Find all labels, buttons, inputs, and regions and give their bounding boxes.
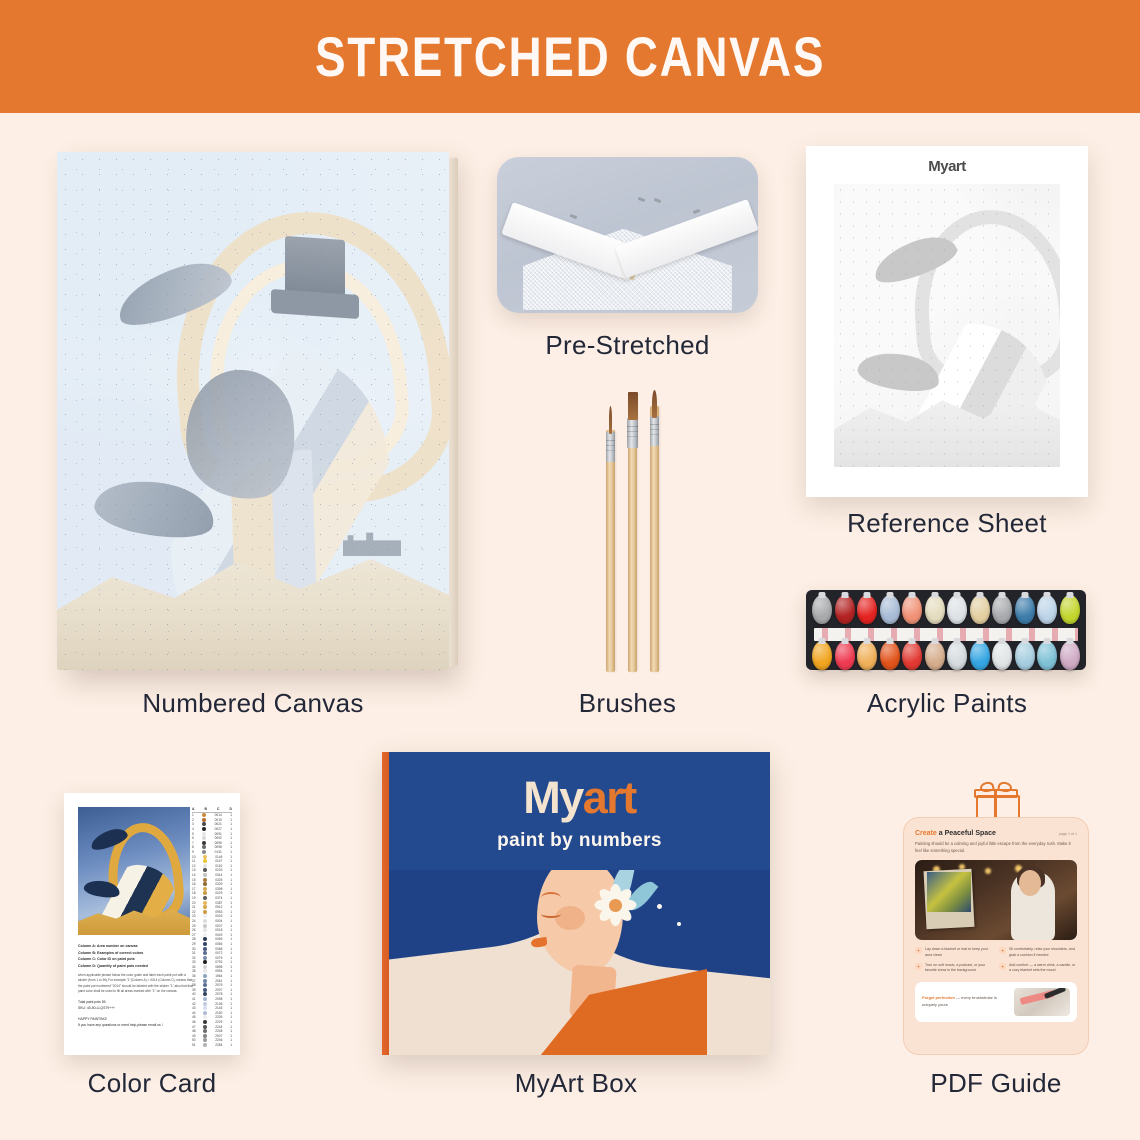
cell-color-id: 2284	[215, 1043, 222, 1047]
box-brand-area: Myart paint by numbers	[389, 752, 770, 874]
brush-ferrule-medium	[650, 416, 659, 446]
daisy-center	[609, 899, 622, 912]
cell-area-number: 30	[192, 947, 196, 951]
tip-item: ✦ Sit comfortably, relax your shoulders,…	[999, 947, 1077, 958]
tip-text: Add comfort — a warm drink, a candle, or…	[1009, 963, 1077, 974]
cell-area-number: 24	[192, 919, 196, 923]
cell-color-id: 0049	[215, 933, 222, 937]
cell-area-number: 41	[192, 997, 196, 1001]
canvas-side-edge	[448, 157, 458, 666]
cell-area-number: 46	[192, 1020, 196, 1024]
reference-specks	[834, 184, 1060, 467]
cell-color-id: 0065	[215, 942, 222, 946]
pdf-footer-note: Forget perfection — every brushstroke is…	[915, 982, 1077, 1022]
cell-color-id: 0953	[215, 910, 222, 914]
cell-area-number: 50	[192, 1038, 196, 1042]
acrylic-paints-image	[806, 590, 1086, 670]
reference-sheet-image: Myart	[806, 146, 1088, 497]
cell-quantity: 1	[230, 942, 232, 946]
paint-pot	[1037, 595, 1057, 624]
tip-item: ✦ Turn on soft music, a podcast, or your…	[915, 963, 993, 974]
cell-area-number: 3	[192, 822, 194, 826]
paint-pot	[1037, 641, 1057, 670]
photo-painting	[927, 872, 971, 912]
cell-quantity: 1	[230, 1025, 232, 1029]
brush-bristles-flat	[628, 392, 638, 420]
cell-quantity: 1	[230, 919, 232, 923]
cell-quantity: 1	[230, 979, 232, 983]
cell-area-number: 31	[192, 951, 196, 955]
cell-area-number: 39	[192, 988, 196, 992]
paint-tray	[806, 590, 1086, 670]
cell-color-id: 2145	[215, 1006, 222, 1010]
tip-text: Sit comfortably, relax your shoulders, a…	[1009, 947, 1077, 958]
gift-icon	[974, 783, 1018, 821]
cell-area-number: 49	[192, 1034, 196, 1038]
cell-color-id: 0325	[215, 878, 222, 882]
reference-sheet-artwork	[834, 184, 1060, 467]
pre-stretched-image	[497, 157, 758, 313]
cell-color-id: 0068	[215, 947, 222, 951]
label-pdf-guide: PDF Guide	[903, 1068, 1089, 1099]
cell-color-id: 0014	[215, 813, 222, 817]
cell-quantity: 1	[230, 896, 232, 900]
cell-area-number: 43	[192, 1006, 196, 1010]
cell-color-id: 0076	[215, 956, 222, 960]
paint-pot	[970, 595, 990, 624]
paint-pot	[880, 641, 900, 670]
brushes-image	[584, 388, 682, 672]
color-card-image: Column A: Area number on canvas Column B…	[64, 793, 240, 1055]
paint-label-strip	[814, 628, 1078, 641]
cell-area-number: 29	[192, 942, 196, 946]
box-tagline: paint by numbers	[389, 830, 770, 852]
cell-color-id: 0912	[215, 905, 222, 909]
color-card-artwork	[78, 807, 190, 935]
cell-color-id: 0147	[215, 859, 222, 863]
cell-area-number: 1	[192, 813, 194, 817]
paint-pot	[1060, 595, 1080, 624]
product-infographic: STRETCHED CANVAS Numbered Canvas	[0, 0, 1140, 1140]
brush-ferrule-small	[606, 432, 615, 462]
legend-line: Column A: Area number on canvas	[78, 943, 194, 950]
cell-color-id: 0387	[215, 901, 222, 905]
tip-icon: ✦	[915, 963, 922, 970]
table-row: 5122841	[192, 1043, 232, 1048]
cell-color-id: 0314	[215, 873, 222, 877]
cell-area-number: 27	[192, 933, 196, 937]
cell-quantity: 1	[230, 841, 232, 845]
cell-quantity: 1	[230, 951, 232, 955]
paint-pot	[925, 595, 945, 624]
cell-quantity: 1	[230, 1002, 232, 1006]
cell-quantity: 1	[230, 1015, 232, 1019]
paint-pot	[970, 641, 990, 670]
tip-icon: ✦	[999, 963, 1006, 970]
cell-color-id: 2244	[215, 1025, 222, 1029]
reference-sheet-logo: Myart	[806, 158, 1088, 175]
support-note: If you have any questions or need help,p…	[78, 1022, 194, 1028]
cell-area-number: 12	[192, 864, 196, 868]
box-side-edge	[382, 752, 389, 1055]
paint-pot	[925, 641, 945, 670]
cell-color-id: 0162	[215, 864, 222, 868]
myart-logo: Myart	[389, 772, 770, 824]
cell-area-number: 35	[192, 969, 196, 973]
tip-text: Turn on soft music, a podcast, or your f…	[925, 963, 993, 974]
cell-color-id: 0096	[215, 841, 222, 845]
pdf-title: Create a Peaceful Space	[915, 830, 996, 837]
numbered-canvas-image	[57, 152, 449, 670]
brush-ferrule-flat	[627, 418, 638, 448]
paint-pot	[857, 641, 877, 670]
paint-pot	[902, 595, 922, 624]
brand-art: art	[583, 772, 636, 823]
page-header: STRETCHED CANVAS	[0, 0, 1140, 113]
cell-color-id: 0004	[215, 919, 222, 923]
cell-quantity: 1	[230, 818, 232, 822]
label-color-card: Color Card	[40, 1068, 264, 1099]
paint-pot	[835, 641, 855, 670]
cell-area-number: 21	[192, 905, 196, 909]
cell-quantity: 1	[230, 992, 232, 996]
paint-pot	[857, 595, 877, 624]
daisy-flower-icon	[594, 884, 636, 926]
cell-color-id: 0329	[215, 882, 222, 886]
brush-handle-flat	[628, 414, 637, 672]
staple-icon	[692, 209, 700, 214]
cell-quantity: 1	[230, 882, 232, 886]
col-c-header: C	[217, 807, 219, 811]
cell-area-number: 51	[192, 1043, 196, 1047]
col-b-header: B	[205, 807, 207, 811]
paint-pot	[812, 641, 832, 670]
cell-quantity: 1	[230, 845, 232, 849]
cell-color-id: 2007	[215, 988, 222, 992]
cell-area-number: 5	[192, 832, 194, 836]
cell-quantity: 1	[230, 813, 232, 817]
sparkle-dot	[677, 922, 681, 926]
cell-color-id: 0898	[215, 965, 222, 969]
paint-row-bottom	[812, 641, 1080, 672]
pdf-page-number: page 1 of 1	[1059, 832, 1077, 836]
label-myart-box: MyArt Box	[382, 1068, 770, 1099]
label-pre-stretched: Pre-Stretched	[497, 330, 758, 361]
cell-color-id: 0021	[215, 822, 222, 826]
label-numbered-canvas: Numbered Canvas	[57, 688, 449, 719]
cell-area-number: 13	[192, 868, 196, 872]
canvas-front-face	[57, 152, 449, 670]
cell-color-id: 0098	[215, 845, 222, 849]
cell-color-id: 2248	[215, 1029, 222, 1033]
cell-color-id: 0092	[215, 836, 222, 840]
pdf-photo	[915, 860, 1077, 940]
pdf-title-highlight: Create	[915, 830, 937, 837]
cell-quantity: 1	[230, 864, 232, 868]
cell-area-number: 47	[192, 1025, 196, 1029]
cell-quantity: 1	[230, 1038, 232, 1042]
cell-quantity: 1	[230, 873, 232, 877]
cell-color-id: 0091	[215, 832, 222, 836]
tip-item: ✦ Lay down a blanket or mat to keep your…	[915, 947, 993, 958]
cell-quantity: 1	[230, 956, 232, 960]
cell-color-id: 2229	[215, 1020, 222, 1024]
cell-quantity: 1	[230, 822, 232, 826]
staple-icon	[570, 214, 578, 219]
cell-color-swatch	[203, 1043, 207, 1047]
cell-area-number: 34	[192, 965, 196, 969]
cell-quantity: 1	[230, 933, 232, 937]
paint-pot	[947, 595, 967, 624]
cell-area-number: 44	[192, 1011, 196, 1015]
tip-item: ✦ Add comfort — a warm drink, a candle, …	[999, 963, 1077, 974]
cell-area-number: 15	[192, 878, 196, 882]
paint-pot	[835, 595, 855, 624]
legend-line: Column C: Color ID on paint pots	[78, 956, 194, 963]
note-text: Forget perfection — every brushstroke is…	[922, 995, 1008, 1008]
cell-quantity: 1	[230, 887, 232, 891]
cell-color-id: 2007	[215, 1034, 222, 1038]
col-a-header: A	[192, 807, 194, 811]
cell-quantity: 1	[230, 960, 232, 964]
legend-line: Column B: Examples of correct colors	[78, 950, 194, 957]
pre-stretched-photo	[497, 157, 758, 313]
cell-quantity: 1	[230, 969, 232, 973]
cell-color-id: 0069	[215, 937, 222, 941]
cell-quantity: 1	[230, 947, 232, 951]
paint-pot	[812, 595, 832, 624]
cell-area-number: 38	[192, 983, 196, 987]
cell-color-id: 0027	[215, 827, 222, 831]
paint-pot	[902, 641, 922, 670]
cell-area-number: 32	[192, 956, 196, 960]
cell-color-id: 2076	[215, 983, 222, 987]
cell-quantity: 1	[230, 988, 232, 992]
pdf-guide-image: Create a Peaceful Space page 1 of 1 Pain…	[903, 785, 1089, 1055]
cell-quantity: 1	[230, 965, 232, 969]
cell-quantity: 1	[230, 983, 232, 987]
tip-icon: ✦	[915, 947, 922, 954]
cell-quantity: 1	[230, 1029, 232, 1033]
cell-area-number: 6	[192, 836, 194, 840]
box-front-face: Myart paint by numbers	[389, 752, 770, 1055]
label-acrylic-paints: Acrylic Paints	[806, 688, 1088, 719]
cell-quantity: 1	[230, 850, 232, 854]
cell-color-id: 2098	[215, 997, 222, 1001]
cell-quantity: 1	[230, 878, 232, 882]
cell-quantity: 1	[230, 832, 232, 836]
note-image	[1014, 988, 1070, 1016]
tip-text: Lay down a blanket or mat to keep your a…	[925, 947, 993, 958]
cell-area-number: 20	[192, 901, 196, 905]
paint-row-top	[812, 595, 1080, 626]
cell-color-id: 1964	[215, 974, 222, 978]
cell-area-number: 9	[192, 850, 194, 854]
note-brush-handle	[1044, 988, 1066, 999]
cell-area-number: 23	[192, 914, 196, 918]
cell-area-number: 18	[192, 891, 196, 895]
cell-color-id: 0131	[215, 850, 222, 854]
cell-area-number: 14	[192, 873, 196, 877]
cell-color-swatch	[202, 832, 206, 836]
cell-quantity: 1	[230, 859, 232, 863]
cell-quantity: 1	[230, 868, 232, 872]
cell-area-number: 37	[192, 979, 196, 983]
cell-area-number: 48	[192, 1029, 196, 1033]
pdf-header: Create a Peaceful Space page 1 of 1	[915, 830, 1077, 837]
cell-color-id: 0029	[215, 891, 222, 895]
paint-pot	[992, 641, 1012, 670]
paint-pot	[1015, 595, 1035, 624]
cell-quantity: 1	[230, 891, 232, 895]
canvas-number-specks	[57, 152, 449, 670]
sparkle-dot	[657, 904, 662, 909]
cell-color-id: 0018	[215, 928, 222, 932]
box-illustration	[389, 870, 770, 1055]
cell-color-id: 0019	[215, 818, 222, 822]
cell-color-id: 2205	[215, 1015, 222, 1019]
cell-color-id: 0954	[215, 969, 222, 973]
cell-quantity: 1	[230, 1043, 232, 1047]
pdf-title-rest: a Peaceful Space	[937, 830, 996, 837]
cell-color-id: 2061	[215, 979, 222, 983]
cell-quantity: 1	[230, 924, 232, 928]
paint-pot	[992, 595, 1012, 624]
paint-pot	[947, 641, 967, 670]
note-highlight: Forget perfection	[922, 995, 955, 1000]
color-card-instructions: when applicable,please follow the color …	[78, 973, 194, 995]
cell-color-id: 0146	[215, 855, 222, 859]
pdf-subtitle: Painting should be a calming and joyful …	[915, 841, 1077, 854]
brush-bristles-small	[609, 406, 612, 434]
cell-area-number: 7	[192, 841, 194, 845]
cell-area-number: 36	[192, 974, 196, 978]
cell-color-id: 0374	[215, 896, 222, 900]
cell-color-id: 2136	[215, 1002, 222, 1006]
cell-color-id: 0792	[215, 960, 222, 964]
cell-color-id: 0003	[215, 914, 222, 918]
brush-handle-small	[606, 430, 615, 672]
brand-my: My	[523, 772, 583, 823]
cell-color-id: 2246	[215, 1038, 222, 1042]
pdf-tips-grid: ✦ Lay down a blanket or mat to keep your…	[915, 947, 1077, 973]
illustration-eye	[541, 910, 561, 918]
label-brushes: Brushes	[497, 688, 758, 719]
cell-area-number: 4	[192, 827, 194, 831]
cell-quantity: 1	[230, 974, 232, 978]
cell-quantity: 1	[230, 836, 232, 840]
cell-quantity: 1	[230, 855, 232, 859]
paint-strip-numbers	[814, 628, 1078, 641]
cell-quantity: 1	[230, 910, 232, 914]
cell-area-number: 40	[192, 992, 196, 996]
staple-icon	[638, 196, 646, 201]
cell-quantity: 1	[230, 914, 232, 918]
staple-icon	[653, 198, 661, 203]
cell-area-number: 42	[192, 1002, 196, 1006]
legend-line: Column D: Quantity of paint pots needed	[78, 963, 194, 970]
photo-light	[985, 868, 991, 874]
cell-area-number: 26	[192, 928, 196, 932]
cell-area-number: 11	[192, 859, 195, 863]
cell-quantity: 1	[230, 1034, 232, 1038]
brush-bristles-medium	[652, 390, 657, 418]
myart-box-image: Myart paint by numbers	[382, 752, 770, 1055]
cell-quantity: 1	[230, 937, 232, 941]
cell-area-number: 17	[192, 887, 196, 891]
cell-area-number: 8	[192, 845, 194, 849]
cell-color-id: 2078	[215, 992, 222, 996]
cell-quantity: 1	[230, 827, 232, 831]
cell-quantity: 1	[230, 928, 232, 932]
cell-area-number: 2	[192, 818, 194, 822]
cell-area-number: 28	[192, 937, 196, 941]
page-title: STRETCHED CANVAS	[315, 24, 825, 89]
cell-color-id: 0007	[215, 924, 222, 928]
cell-area-number: 22	[192, 910, 196, 914]
cell-color-id: 0398	[215, 887, 222, 891]
col-d-header: D	[230, 807, 232, 811]
sku: SKU: 40-50-LLQS79+++	[78, 1005, 194, 1011]
pdf-guide-page: Create a Peaceful Space page 1 of 1 Pain…	[903, 817, 1089, 1055]
cell-area-number: 33	[192, 960, 196, 964]
paint-pot	[1015, 641, 1035, 670]
paint-pot	[1060, 641, 1080, 670]
cell-area-number: 16	[192, 882, 196, 886]
illustration-eyebrow	[541, 892, 561, 904]
cell-quantity: 1	[230, 1011, 232, 1015]
cell-quantity: 1	[230, 901, 232, 905]
cell-color-id: 0233	[215, 868, 222, 872]
label-reference-sheet: Reference Sheet	[806, 508, 1088, 539]
tip-icon: ✦	[999, 947, 1006, 954]
paint-pot	[880, 595, 900, 624]
color-card-rows: 1001412001913002114002715009116009217009…	[192, 813, 232, 1047]
cell-quantity: 1	[230, 1006, 232, 1010]
cell-quantity: 1	[230, 997, 232, 1001]
cell-area-number: 10	[192, 855, 196, 859]
cell-area-number: 45	[192, 1015, 196, 1019]
color-card-text: Column A: Area number on canvas Column B…	[78, 943, 194, 1029]
cell-area-number: 25	[192, 924, 196, 928]
cell-area-number: 19	[192, 896, 196, 900]
cell-quantity: 1	[230, 905, 232, 909]
cell-color-id: 2150	[215, 1011, 222, 1015]
color-card-table: A B C D 10014120019130021140027150091160…	[192, 807, 232, 1047]
cell-color-id: 0072	[215, 951, 222, 955]
cell-quantity: 1	[230, 1020, 232, 1024]
